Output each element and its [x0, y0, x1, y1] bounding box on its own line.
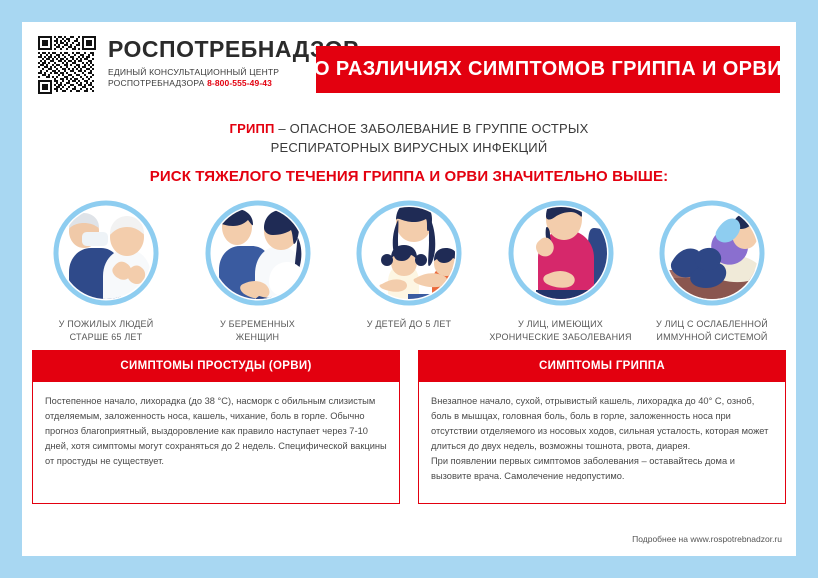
person-weak-immunity-icon	[657, 198, 767, 308]
risk-caption-pregnant: У БЕРЕМЕННЫХ ЖЕНЩИН	[184, 318, 332, 344]
caption-line-1: У ЛИЦ С ОСЛАБЛЕННОЙ	[638, 318, 786, 331]
risk-caption-elderly: У ПОЖИЛЫХ ЛЮДЕЙ СТАРШЕ 65 ЛЕТ	[32, 318, 180, 344]
elderly-couple-icon	[51, 198, 161, 308]
man-with-chronic-illness-icon	[506, 198, 616, 308]
cold-panel-title: СИМПТОМЫ ПРОСТУДЫ (ОРВИ)	[120, 360, 311, 372]
caption-line-1: У ПОЖИЛЫХ ЛЮДЕЙ	[32, 318, 180, 331]
caption-line-1: У БЕРЕМЕННЫХ	[184, 318, 332, 331]
caption-line-2: ЖЕНЩИН	[184, 331, 332, 344]
pregnant-couple-icon	[203, 198, 313, 308]
intro-line-2: РЕСПИРАТОРНЫХ ВИРУСНЫХ ИНФЕКЦИЙ	[22, 139, 796, 158]
cold-panel-body: Постепенное начало, лихорадка (до 38 °C)…	[32, 382, 400, 504]
risk-caption-children: У ДЕТЕЙ ДО 5 ЛЕТ	[335, 318, 483, 331]
flu-symptoms-panel: СИМПТОМЫ ГРИППА Внезапное начало, сухой,…	[418, 350, 786, 504]
flu-advice-text: При появлении первых симптомов заболеван…	[431, 454, 774, 484]
flu-panel-body: Внезапное начало, сухой, отрывистый каше…	[418, 382, 786, 504]
hotline-phone[interactable]: 8-800-555-49-43	[207, 78, 272, 88]
poster-header: РОСПОТРЕБНАДЗОР ЕДИНЫЙ КОНСУЛЬТАЦИОННЫЙ …	[22, 22, 796, 104]
risk-groups-row: У ПОЖИЛЫХ ЛЮДЕЙ СТАРШЕ 65 ЛЕТ	[32, 198, 786, 344]
risk-caption-immunity: У ЛИЦ С ОСЛАБЛЕННОЙ ИММУННОЙ СИСТЕМОЙ	[638, 318, 786, 344]
symptom-panels: СИМПТОМЫ ПРОСТУДЫ (ОРВИ) Постепенное нач…	[32, 350, 786, 504]
footer-note[interactable]: Подробнее на www.rospotrebnadzor.ru	[632, 534, 782, 544]
caption-line-2: ИММУННОЙ СИСТЕМОЙ	[638, 331, 786, 344]
poster-title: О РАЗЛИЧИЯХ СИМПТОМОВ ГРИППА И ОРВИ	[314, 58, 782, 81]
cold-panel-header: СИМПТОМЫ ПРОСТУДЫ (ОРВИ)	[32, 350, 400, 382]
risk-group-immunity: У ЛИЦ С ОСЛАБЛЕННОЙ ИММУННОЙ СИСТЕМОЙ	[638, 198, 786, 344]
risk-group-elderly: У ПОЖИЛЫХ ЛЮДЕЙ СТАРШЕ 65 ЛЕТ	[32, 198, 180, 344]
qr-code-icon	[38, 36, 96, 94]
caption-line-2: СТАРШЕ 65 ЛЕТ	[32, 331, 180, 344]
flu-symptoms-text: Внезапное начало, сухой, отрывистый каше…	[431, 394, 774, 454]
mother-with-children-icon	[354, 198, 464, 308]
caption-line-2: ХРОНИЧЕСКИЕ ЗАБОЛЕВАНИЯ	[487, 331, 635, 344]
risk-caption-chronic: У ЛИЦ, ИМЕЮЩИХ ХРОНИЧЕСКИЕ ЗАБОЛЕВАНИЯ	[487, 318, 635, 344]
intro-line-1: ГРИПП – ОПАСНОЕ ЗАБОЛЕВАНИЕ В ГРУППЕ ОСТ…	[22, 120, 796, 139]
intro-block: ГРИПП – ОПАСНОЕ ЗАБОЛЕВАНИЕ В ГРУППЕ ОСТ…	[22, 120, 796, 185]
flu-panel-header: СИМПТОМЫ ГРИППА	[418, 350, 786, 382]
title-banner: О РАЗЛИЧИЯХ СИМПТОМОВ ГРИППА И ОРВИ	[316, 46, 780, 93]
flu-panel-title: СИМПТОМЫ ГРИППА	[539, 360, 665, 372]
risk-group-children: У ДЕТЕЙ ДО 5 ЛЕТ	[335, 198, 483, 344]
organization-name: РОСПОТРЕБНАДЗОРА	[108, 78, 205, 88]
intro-line-1-rest: – ОПАСНОЕ ЗАБОЛЕВАНИЕ В ГРУППЕ ОСТРЫХ	[275, 121, 589, 136]
cold-symptoms-text: Постепенное начало, лихорадка (до 38 °C)…	[45, 394, 388, 469]
cold-symptoms-panel: СИМПТОМЫ ПРОСТУДЫ (ОРВИ) Постепенное нач…	[32, 350, 400, 504]
risk-statement: РИСК ТЯЖЕЛОГО ТЕЧЕНИЯ ГРИППА И ОРВИ ЗНАЧ…	[22, 168, 796, 185]
logo-block: РОСПОТРЕБНАДЗОР ЕДИНЫЙ КОНСУЛЬТАЦИОННЫЙ …	[38, 36, 359, 94]
risk-group-chronic: У ЛИЦ, ИМЕЮЩИХ ХРОНИЧЕСКИЕ ЗАБОЛЕВАНИЯ	[487, 198, 635, 344]
poster-card: РОСПОТРЕБНАДЗОР ЕДИНЫЙ КОНСУЛЬТАЦИОННЫЙ …	[22, 22, 796, 556]
flu-highlight: ГРИПП	[230, 121, 275, 136]
caption-line-1: У ДЕТЕЙ ДО 5 ЛЕТ	[335, 318, 483, 331]
risk-group-pregnant: У БЕРЕМЕННЫХ ЖЕНЩИН	[184, 198, 332, 344]
caption-line-1: У ЛИЦ, ИМЕЮЩИХ	[487, 318, 635, 331]
